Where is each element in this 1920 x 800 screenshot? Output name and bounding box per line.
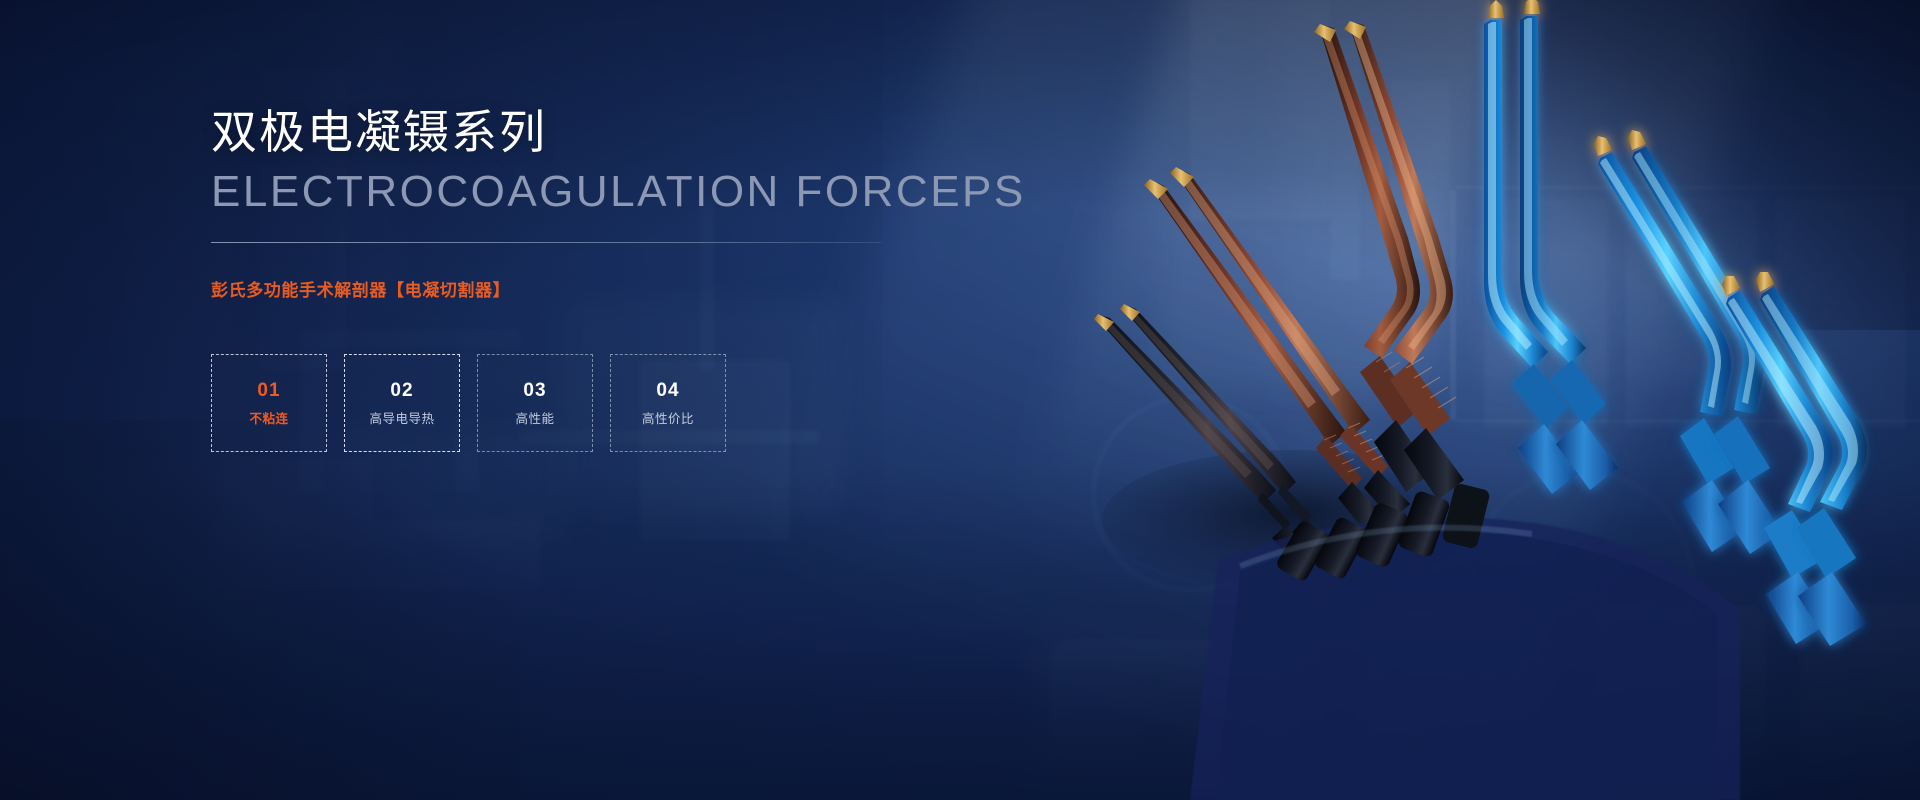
feature-label: 高导电导热 [369,413,434,426]
feature-number: 01 [257,381,280,400]
feature-label: 高性能 [515,413,554,426]
feature-item-01[interactable]: 01 不粘连 [211,354,327,452]
feature-label: 高性价比 [642,413,694,426]
feature-number: 02 [390,381,413,400]
title-divider [211,242,881,243]
feature-item-04[interactable]: 04 高性价比 [610,354,726,452]
feature-item-02[interactable]: 02 高导电导热 [344,354,460,452]
banner-content: 双极电凝镊系列 ELECTROCOAGULATION FORCEPS 彭氏多功能… [211,104,911,452]
page-title-cn: 双极电凝镊系列 [211,104,911,160]
feature-item-03[interactable]: 03 高性能 [477,354,593,452]
feature-label: 不粘连 [249,413,288,426]
feature-list: 01 不粘连 02 高导电导热 03 高性能 04 高性价比 [211,354,911,452]
feature-number: 03 [523,381,546,400]
product-banner: 双极电凝镊系列 ELECTROCOAGULATION FORCEPS 彭氏多功能… [0,0,1920,800]
feature-number: 04 [656,381,679,400]
page-title-en: ELECTROCOAGULATION FORCEPS [211,166,911,218]
product-subtitle: 彭氏多功能手术解剖器【电凝切割器】 [211,276,911,301]
